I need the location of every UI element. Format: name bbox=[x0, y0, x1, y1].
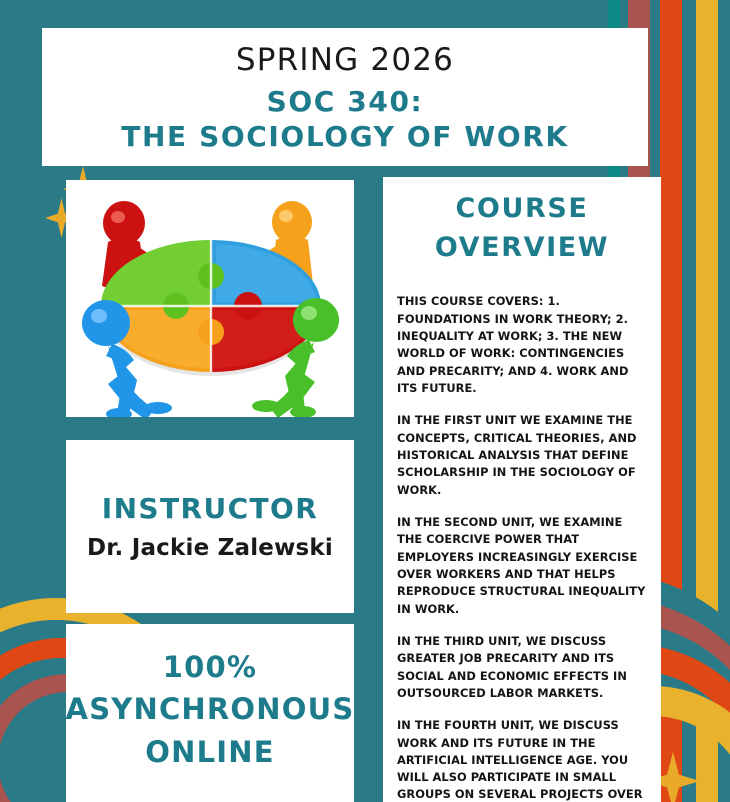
teamwork-puzzle-image-card bbox=[66, 180, 354, 417]
top-stripe-teal-e bbox=[718, 0, 730, 14]
edge-stripe-gold bbox=[696, 0, 718, 802]
delivery-mode-card: 100% ASYNCHRONOUS ONLINE bbox=[66, 624, 354, 802]
course-flyer-poster: SPRING 2026 SOC 340: THE SOCIOLOGY OF WO… bbox=[0, 0, 730, 802]
overview-paragraph: In the second unit, we examine the coerc… bbox=[397, 514, 647, 618]
top-stripe-orange bbox=[660, 0, 682, 14]
edge-stripe-orange bbox=[660, 0, 682, 802]
title-card: SPRING 2026 SOC 340: THE SOCIOLOGY OF WO… bbox=[42, 28, 648, 166]
top-stripe-teal-d bbox=[682, 0, 696, 14]
top-stripe-gold bbox=[696, 0, 718, 14]
instructor-name: Dr. Jackie Zalewski bbox=[87, 535, 333, 561]
delivery-mode: ASYNCHRONOUS bbox=[66, 688, 355, 730]
delivery-medium: ONLINE bbox=[145, 731, 274, 773]
term-label: SPRING 2026 bbox=[236, 43, 454, 77]
overview-paragraph: In the first unit we examine the concept… bbox=[397, 412, 647, 499]
top-stripe-teal-c bbox=[650, 0, 660, 14]
top-stripe-teal-a bbox=[596, 0, 608, 14]
top-stripe-teal-green bbox=[608, 0, 620, 14]
course-overview-card: COURSE OVERVIEW This course covers: 1. F… bbox=[383, 177, 661, 802]
instructor-label: INSTRUCTOR bbox=[102, 492, 318, 525]
course-code: SOC 340: bbox=[267, 85, 424, 120]
top-stripe-brick-red bbox=[628, 0, 650, 14]
top-stripe-teal-b bbox=[620, 0, 628, 14]
overview-paragraph: In the fourth unit, we discuss work and … bbox=[397, 717, 647, 802]
instructor-card: INSTRUCTOR Dr. Jackie Zalewski bbox=[66, 440, 354, 613]
delivery-percent: 100% bbox=[163, 646, 257, 688]
overview-paragraph: In the third unit, we discuss greater jo… bbox=[397, 633, 647, 702]
course-overview-body: This course covers: 1. Foundations in wo… bbox=[397, 293, 647, 802]
overview-paragraph: This course covers: 1. Foundations in wo… bbox=[397, 293, 647, 397]
teamwork-puzzle-illustration bbox=[66, 180, 354, 417]
edge-stripe-teal-4 bbox=[718, 0, 730, 802]
edge-stripe-teal-3 bbox=[682, 0, 696, 802]
course-overview-title: COURSE OVERVIEW bbox=[397, 189, 647, 267]
course-name: THE SOCIOLOGY OF WORK bbox=[121, 120, 568, 155]
